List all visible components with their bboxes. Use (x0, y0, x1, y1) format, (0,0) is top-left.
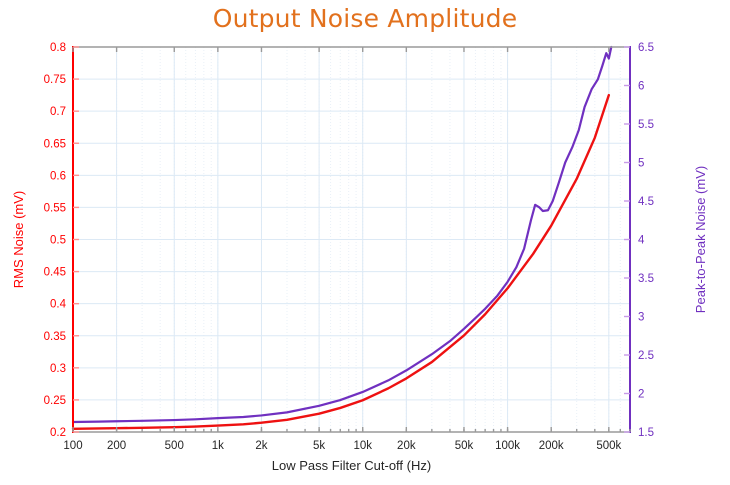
x-tick-label: 50k (455, 440, 474, 452)
y-left-axis-title: RMS Noise (mV) (11, 191, 26, 289)
series-layer (73, 47, 611, 429)
y-right-tick-label: 4.5 (638, 196, 654, 208)
y-left-tick-label: 0.3 (50, 363, 66, 375)
x-tick-label: 200k (539, 440, 564, 452)
x-tick-label: 10k (353, 440, 372, 452)
x-tick-label: 5k (313, 440, 325, 452)
y-right-tick-label: 5.5 (638, 119, 654, 131)
tick-labels: 1002005001k2k5k10k20k50k100k200k500k0.20… (44, 42, 654, 452)
y-right-axis-title: Peak-to-Peak Noise (mV) (693, 166, 708, 313)
x-tick-label: 1k (212, 440, 224, 452)
series-line-rms (73, 95, 609, 429)
y-right-tick-label: 6 (638, 81, 644, 93)
y-left-tick-label: 0.6 (50, 170, 66, 182)
y-right-tick-label: 3 (638, 312, 644, 324)
y-left-tick-label: 0.8 (50, 42, 66, 54)
y-left-tick-label: 0.45 (44, 267, 66, 279)
y-left-tick-label: 0.2 (50, 427, 66, 439)
x-axis-title: Low Pass Filter Cut-off (Hz) (272, 458, 431, 473)
y-right-tick-label: 5 (638, 158, 644, 170)
x-tick-label: 500 (165, 440, 184, 452)
chart-figure: Output Noise Amplitude 1002005001k2k5k10… (0, 0, 730, 485)
y-left-tick-label: 0.25 (44, 395, 66, 407)
axis-titles: RMS Noise (mV)Peak-to-Peak Noise (mV)Low… (11, 166, 708, 473)
y-left-tick-label: 0.35 (44, 331, 66, 343)
x-tick-label: 2k (255, 440, 267, 452)
series-line-peak-to-peak (73, 47, 611, 422)
y-right-tick-label: 1.5 (638, 427, 654, 439)
x-tick-label: 200 (107, 440, 126, 452)
y-left-tick-label: 0.7 (50, 106, 66, 118)
x-tick-label: 100k (495, 440, 520, 452)
y-left-tick-label: 0.75 (44, 74, 66, 86)
grid-layer (73, 47, 630, 432)
x-tick-label: 500k (596, 440, 621, 452)
y-left-tick-label: 0.55 (44, 202, 66, 214)
y-right-tick-label: 6.5 (638, 42, 654, 54)
y-right-tick-label: 2.5 (638, 350, 654, 362)
x-tick-label: 20k (397, 440, 416, 452)
y-left-tick-label: 0.65 (44, 138, 66, 150)
y-right-tick-label: 4 (638, 235, 645, 247)
y-left-tick-label: 0.4 (50, 299, 67, 311)
output-noise-amplitude-plot: 1002005001k2k5k10k20k50k100k200k500k0.20… (0, 0, 730, 485)
x-tick-label: 100 (63, 440, 82, 452)
y-right-tick-label: 2 (638, 389, 644, 401)
y-right-tick-label: 3.5 (638, 273, 654, 285)
y-left-tick-label: 0.5 (50, 235, 66, 247)
